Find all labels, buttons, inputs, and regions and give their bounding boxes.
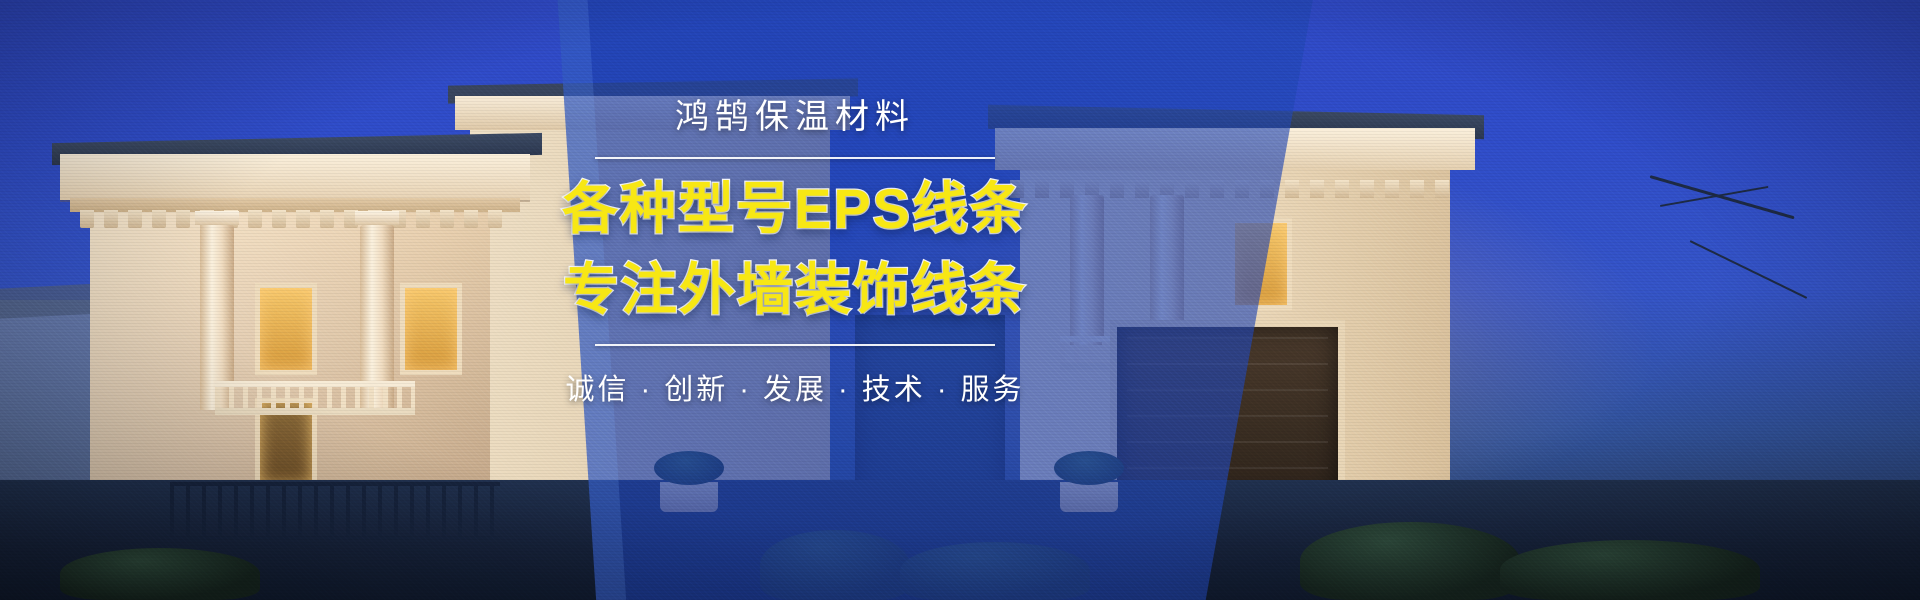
headline-line-2: 专注外墙装饰线条: [560, 258, 1030, 322]
villa-column-capital: [355, 211, 399, 225]
villa-left-cornice: [60, 154, 530, 200]
shrub: [1500, 540, 1760, 600]
shrub: [1300, 522, 1520, 600]
villa-window-lit: [400, 283, 462, 375]
shrub: [60, 548, 260, 600]
divider-rule-bottom: [595, 344, 995, 346]
iron-fence: [170, 482, 500, 540]
villa-balustrade: [215, 381, 415, 415]
headline-line-1: 各种型号EPS线条: [560, 177, 1030, 241]
brand-name: 鸿鹄保温材料: [560, 96, 1030, 139]
divider-rule-top: [595, 157, 995, 159]
villa-left-dentil-row: [80, 210, 510, 228]
hero-banner: 鸿鹄保温材料 各种型号EPS线条 专注外墙装饰线条 诚信 · 创新 · 发展 ·…: [0, 0, 1920, 600]
tagline: 诚信 · 创新 · 发展 · 技术 · 服务: [560, 366, 1030, 408]
villa-column-capital: [195, 211, 239, 225]
banner-copy-block: 鸿鹄保温材料 各种型号EPS线条 专注外墙装饰线条 诚信 · 创新 · 发展 ·…: [560, 96, 1030, 408]
villa-window-lit: [255, 283, 317, 375]
